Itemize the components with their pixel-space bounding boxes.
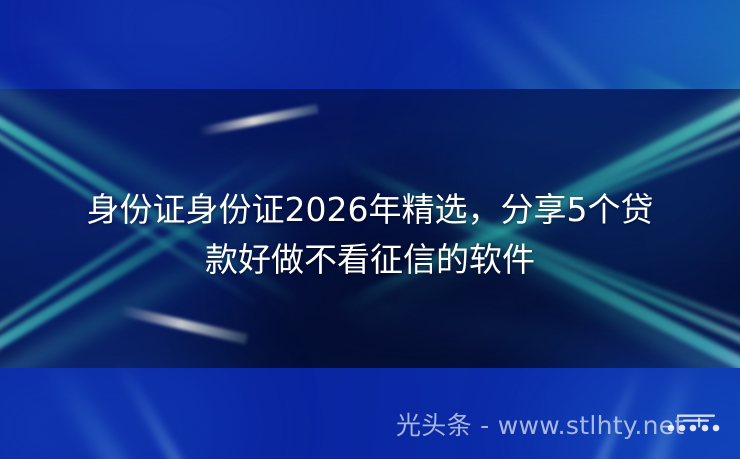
cover-image: 身份证身份证2026年精选，分享5个贷 款好做不看征信的软件 光头条 - www…: [0, 0, 740, 459]
site-watermark: 光头条 - www.stlhty.net: [396, 411, 685, 441]
headline-line-1: 身份证身份证2026年精选，分享5个贷: [0, 185, 740, 235]
stlhty-logo-mark: [665, 412, 727, 440]
headline-line-2: 款好做不看征信的软件: [0, 235, 740, 285]
headline-text: 身份证身份证2026年精选，分享5个贷 款好做不看征信的软件: [0, 185, 740, 285]
background-band-top: [0, 0, 740, 89]
